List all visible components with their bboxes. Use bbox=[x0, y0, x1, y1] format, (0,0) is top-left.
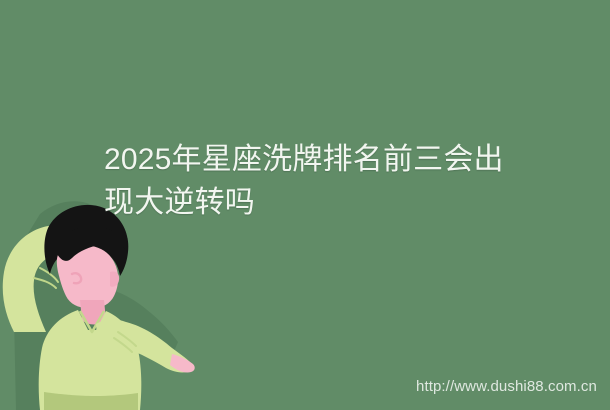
ear bbox=[110, 271, 119, 286]
page-title: 2025年星座洗牌排名前三会出现大逆转吗 bbox=[104, 138, 524, 224]
article-cover-image: 2025年星座洗牌排名前三会出现大逆转吗 http://www.dushi88.… bbox=[0, 0, 610, 410]
person-hand-behind-head-illustration bbox=[0, 196, 200, 410]
watermark-url: http://www.dushi88.com.cn bbox=[416, 377, 597, 397]
